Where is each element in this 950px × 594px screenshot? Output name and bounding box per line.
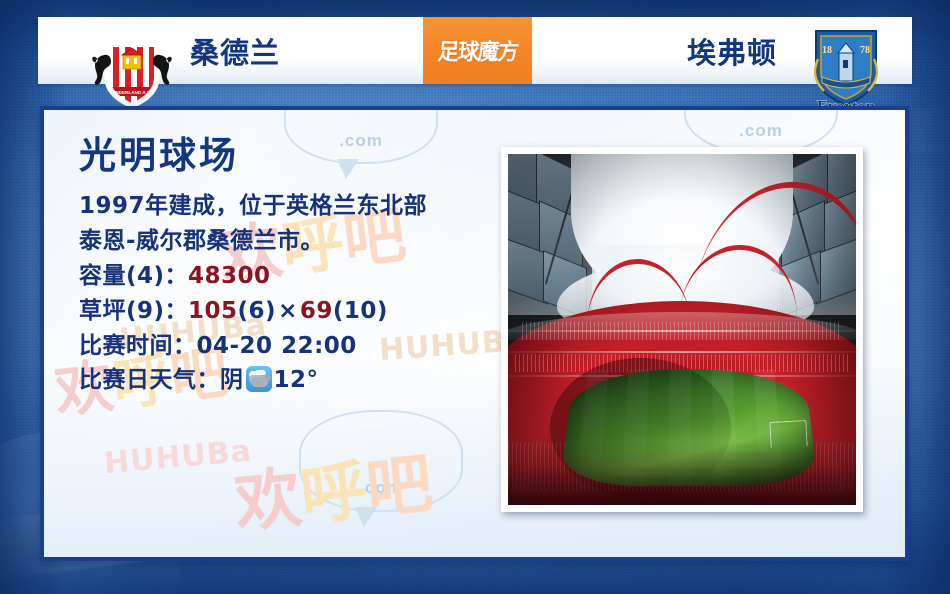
watermark-dotcom-bottom: .com bbox=[301, 478, 461, 498]
pitch-width-rank: (10) bbox=[333, 298, 388, 324]
capacity-separator: ： bbox=[165, 263, 189, 289]
weather-condition: 阴 bbox=[220, 367, 244, 393]
weather-temperature: 12° bbox=[274, 367, 319, 393]
pitch-length-value: 105 bbox=[188, 298, 238, 324]
overcast-cloud-icon bbox=[246, 366, 272, 392]
site-logo-text: 足球魔方 bbox=[436, 34, 519, 66]
pitch-width-value: 69 bbox=[300, 298, 333, 324]
everton-crest-icon: 18 78 Everton bbox=[794, 19, 898, 115]
away-team-name: 埃弗顿 bbox=[687, 30, 777, 72]
stadium-info-text: 光明球场 1997年建成，位于英格兰东北部 泰恩-威尔郡桑德兰市。 容量(4)：… bbox=[79, 136, 499, 398]
pitch-label: 草坪(9) bbox=[79, 298, 165, 324]
watermark-brand-bottom: 欢呼吧 bbox=[230, 430, 437, 546]
pitch-separator: ： bbox=[165, 298, 189, 324]
match-time-row: 比赛时间：04-20 22:00 bbox=[79, 329, 499, 364]
home-team-name: 桑德兰 bbox=[190, 30, 280, 72]
everton-year-right: 78 bbox=[860, 45, 870, 56]
stadium-interior-photo bbox=[508, 154, 856, 505]
match-header-bar: SUNDERLAND A.F.C. 桑德兰 足球魔方 埃弗顿 bbox=[38, 17, 912, 84]
pitch-length-rank: (6) bbox=[238, 298, 277, 324]
stadium-description-line-1: 1997年建成，位于英格兰东北部 bbox=[79, 189, 499, 224]
stadium-photo-frame[interactable] bbox=[501, 147, 863, 512]
capacity-label: 容量(4) bbox=[79, 263, 165, 289]
match-time-separator: ： bbox=[173, 333, 197, 359]
weather-separator: ： bbox=[197, 367, 221, 393]
home-team-crest[interactable]: SUNDERLAND A.F.C. bbox=[82, 25, 182, 110]
site-logo-badge[interactable]: 足球魔方 bbox=[423, 17, 532, 84]
pitch-times-symbol: × bbox=[276, 298, 300, 324]
pitch-row: 草坪(9)：105(6)×69(10) bbox=[79, 294, 499, 329]
weather-label: 比赛日天气 bbox=[79, 367, 197, 393]
watermark-speech-bubble-bottom: .com bbox=[299, 410, 463, 512]
match-time-value: 04-20 22:00 bbox=[197, 333, 357, 359]
watermark-latin-lower: HUHUBa bbox=[103, 434, 254, 482]
capacity-value: 48300 bbox=[188, 263, 271, 289]
match-time-label: 比赛时间 bbox=[79, 333, 173, 359]
capacity-row: 容量(4)：48300 bbox=[79, 259, 499, 294]
weather-row: 比赛日天气：阴12° bbox=[79, 363, 499, 398]
sunderland-crest-icon: SUNDERLAND A.F.C. bbox=[82, 25, 182, 110]
stadium-title: 光明球场 bbox=[79, 136, 499, 177]
stadium-info-card: .com .com .com HUHUBa HUHUBa HUHUBa 欢呼吧 … bbox=[40, 106, 909, 561]
stadium-description-line-2: 泰恩-威尔郡桑德兰市。 bbox=[79, 224, 499, 259]
everton-year-left: 18 bbox=[822, 45, 832, 56]
watermark-dotcom-topright: .com bbox=[686, 121, 836, 141]
away-team-crest[interactable]: 18 78 Everton bbox=[794, 19, 898, 115]
